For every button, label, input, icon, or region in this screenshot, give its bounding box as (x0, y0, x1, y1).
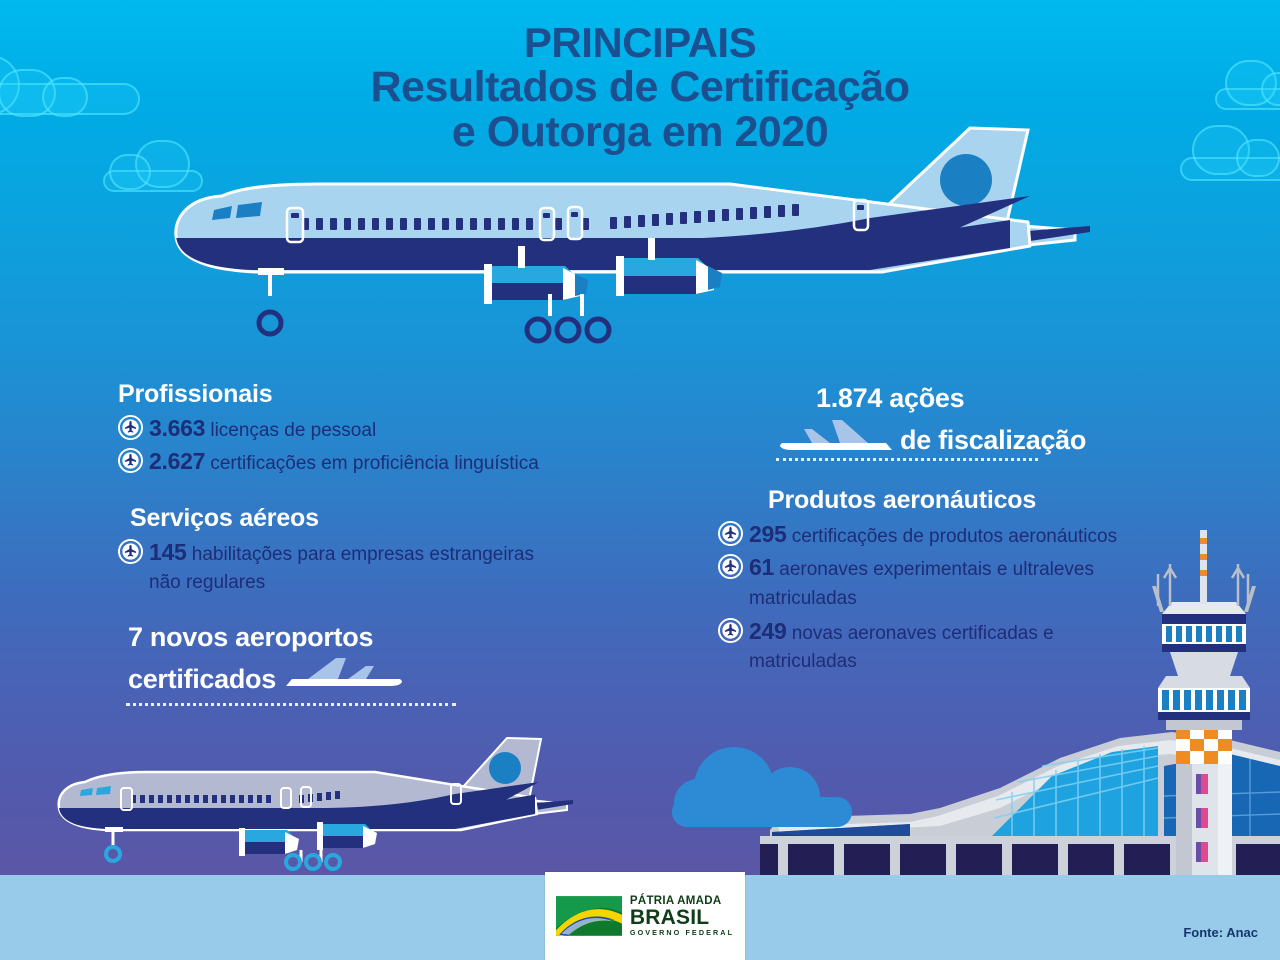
stat-label: certificações em proficiência linguístic… (210, 453, 538, 474)
stat-number: 249 (749, 618, 786, 644)
section-servicos-aereos: Serviços aéreos 145 habilitações para em… (118, 502, 718, 598)
plane-silhouette-right-icon (282, 654, 404, 694)
list-item: 2.627 certificações em proficiência ling… (118, 445, 718, 477)
statement-fiscalizacao: 1.874 ações de fiscalização (780, 382, 1086, 461)
plane-badge-icon (718, 554, 743, 579)
plane-badge-icon (118, 539, 143, 564)
statement-line-1: 1.874 ações (780, 382, 1086, 414)
dotted-underline (776, 458, 1038, 461)
statement-line-2: de fiscalização (900, 424, 1086, 456)
source-label: Fonte: Anac (1183, 925, 1258, 940)
plane-badge-icon (118, 448, 143, 473)
right-column: Produtos aeronáuticos 295 certificações … (718, 484, 1258, 681)
stat-continuation: matriculadas (718, 585, 1258, 614)
brazil-flag-swoosh-icon (556, 896, 622, 936)
logo-country: BRASIL (630, 907, 734, 928)
government-logo: PÁTRIA AMADA BRASIL GOVERNO FEDERAL (545, 872, 745, 960)
list-item: 249 novas aeronaves certificadas e (718, 615, 1258, 647)
section-heading: Profissionais (118, 378, 718, 410)
stat-label: habilitações para empresas estrangeiras (192, 544, 534, 565)
page-title: PRINCIPAIS Resultados de Certificação e … (0, 22, 1280, 156)
stat-label: licenças de pessoal (210, 420, 376, 441)
list-item: 145 habilitações para empresas estrangei… (118, 536, 718, 568)
list-item: 295 certificações de produtos aeronáutic… (718, 518, 1258, 550)
section-heading: Produtos aeronáuticos (718, 484, 1258, 516)
plane-badge-icon (718, 618, 743, 643)
stat-number: 61 (749, 554, 774, 580)
statement-line-1: 7 novos aeroportos (118, 621, 718, 653)
dotted-underline (126, 703, 456, 706)
infographic-canvas: PRINCIPAIS Resultados de Certificação e … (0, 0, 1280, 960)
stat-continuation: matriculadas (718, 648, 1258, 677)
stat-label: aeronaves experimentais e ultraleves (779, 559, 1094, 580)
left-column: Profissionais 3.663 licenças de pessoal (118, 378, 718, 706)
stat-number: 145 (149, 539, 186, 565)
section-heading: Serviços aéreos (118, 502, 718, 534)
stat-number: 295 (749, 521, 786, 547)
plane-badge-icon (718, 521, 743, 546)
stat-label: certificações de produtos aeronáuticos (792, 526, 1117, 547)
section-produtos-aeronauticos: Produtos aeronáuticos 295 certificações … (718, 484, 1258, 677)
title-line-3: e Outorga em 2020 (0, 110, 1280, 156)
plane-silhouette-left-icon (780, 414, 896, 456)
plane-badge-icon (118, 415, 143, 440)
title-line-1: PRINCIPAIS (0, 22, 1280, 65)
section-profissionais: Profissionais 3.663 licenças de pessoal (118, 378, 718, 478)
logo-government: GOVERNO FEDERAL (630, 929, 734, 936)
title-line-2: Resultados de Certificação (0, 65, 1280, 111)
cloud-bottom-center-icon (672, 745, 852, 835)
stat-number: 3.663 (149, 415, 205, 441)
stat-number: 2.627 (149, 448, 205, 474)
statement-aeroportos: 7 novos aeroportos certificados (118, 621, 718, 705)
list-item: 61 aeronaves experimentais e ultraleves (718, 551, 1258, 583)
statement-line-2: certificados (128, 663, 276, 695)
list-item: 3.663 licenças de pessoal (118, 412, 718, 444)
stat-label: novas aeronaves certificadas e (792, 623, 1054, 644)
plane-bottom-illustration (55, 730, 575, 880)
stat-continuation: não regulares (118, 569, 718, 598)
